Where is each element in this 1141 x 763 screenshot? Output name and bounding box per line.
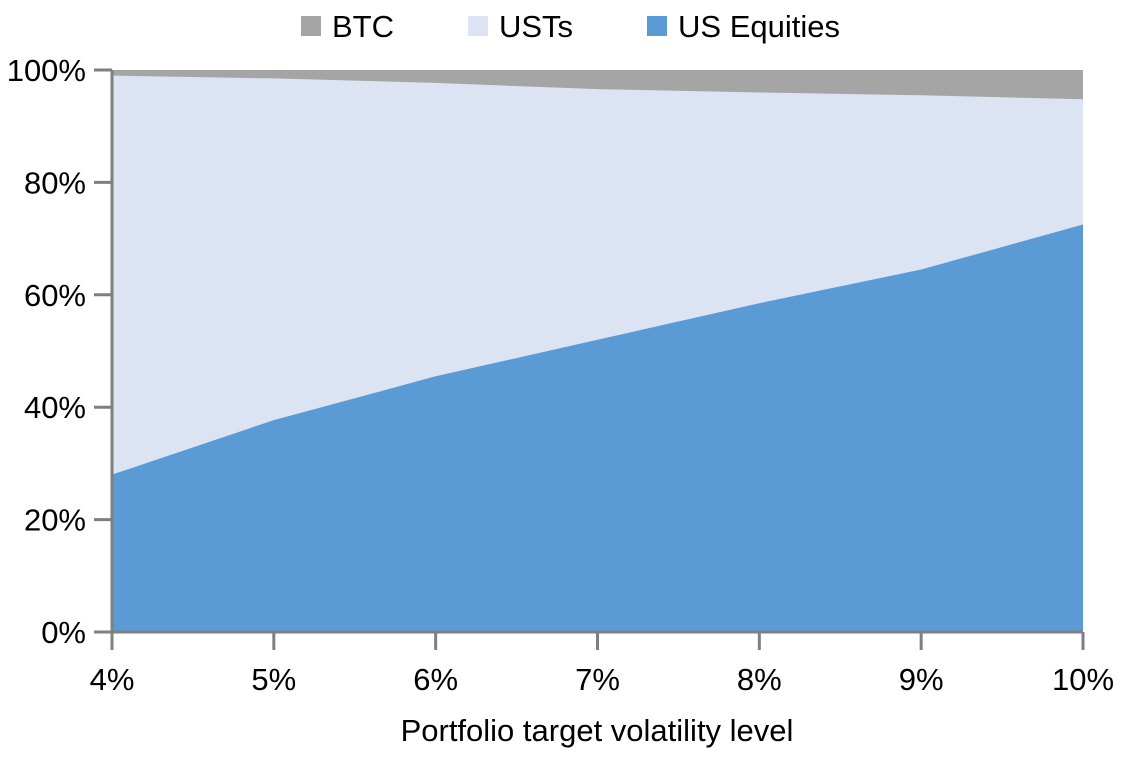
- y-axis-tick-label: 0%: [41, 615, 86, 650]
- x-axis-tick-marks: [112, 632, 1083, 650]
- x-axis-tick-label: 8%: [737, 662, 782, 697]
- x-axis-title: Portfolio target volatility level: [401, 713, 794, 748]
- x-axis-tick-label: 5%: [251, 662, 296, 697]
- y-axis-tick-label: 20%: [24, 503, 86, 538]
- area-series-group: [112, 70, 1083, 632]
- stacked-area-chart: BTC USTs US Equities 0%20%40%60%80%100% …: [0, 0, 1141, 763]
- y-axis-tick-marks: [94, 70, 112, 632]
- x-axis-tick-label: 7%: [575, 662, 620, 697]
- y-axis-tick-label: 100%: [7, 53, 86, 88]
- x-axis-tick-label: 9%: [899, 662, 944, 697]
- x-axis-tick-label: 4%: [90, 662, 135, 697]
- x-axis-tick-label: 10%: [1052, 662, 1114, 697]
- x-axis-tick-label: 6%: [413, 662, 458, 697]
- y-axis-tick-label: 80%: [24, 165, 86, 200]
- y-axis-tick-label: 60%: [24, 278, 86, 313]
- y-axis-tick-labels: 0%20%40%60%80%100%: [7, 53, 86, 650]
- x-axis-tick-labels: 4%5%6%7%8%9%10%: [90, 662, 1114, 697]
- y-axis-tick-label: 40%: [24, 390, 86, 425]
- plot-area: 0%20%40%60%80%100% 4%5%6%7%8%9%10% Portf…: [0, 0, 1141, 763]
